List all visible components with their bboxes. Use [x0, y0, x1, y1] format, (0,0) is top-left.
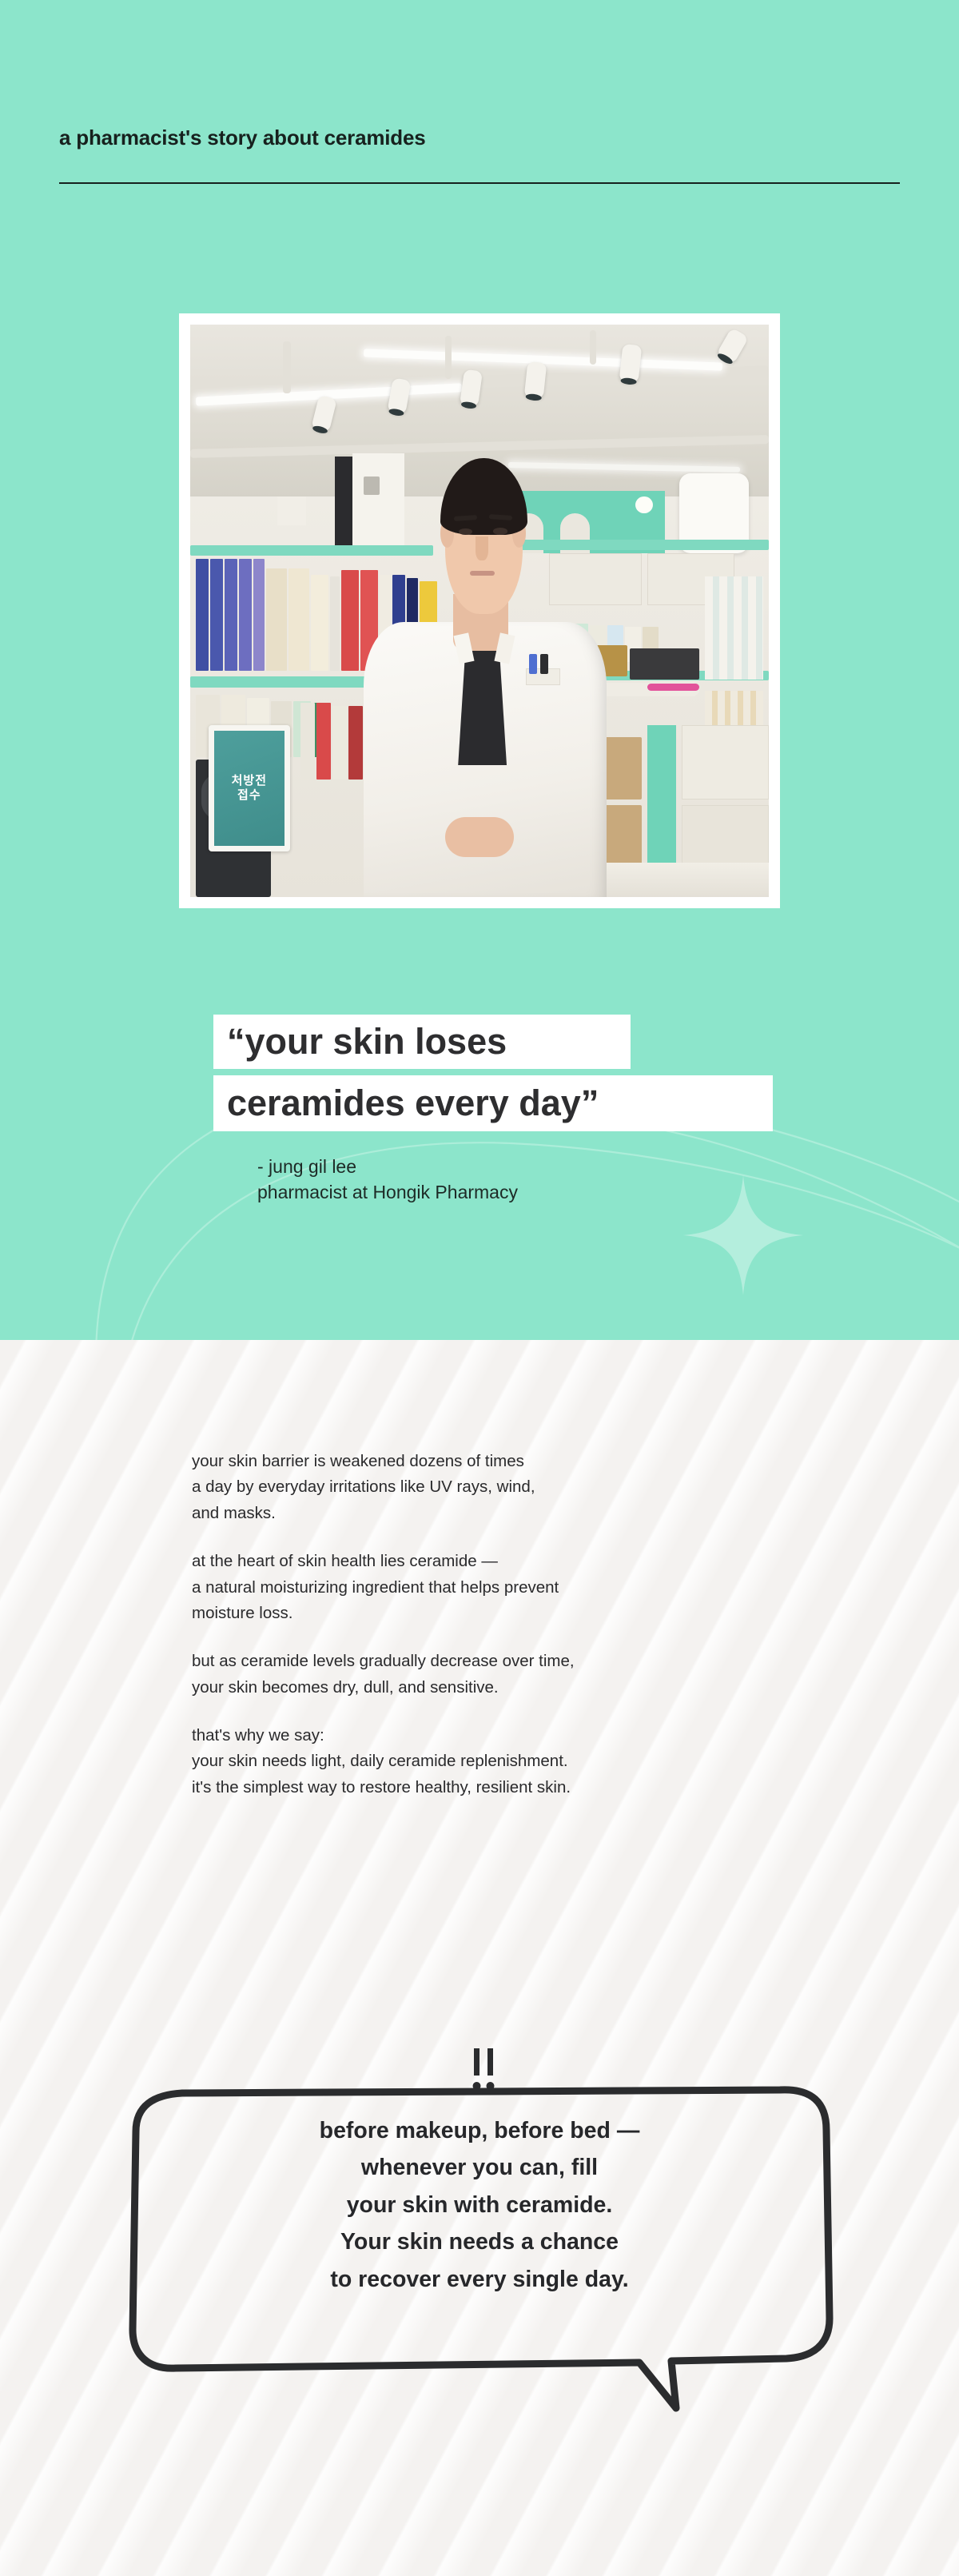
pharmacist-nose: [476, 536, 488, 560]
double-exclamation-icon: [470, 2048, 499, 2093]
wall-switch: [364, 477, 380, 495]
body-paragraph: your skin barrier is weakened dozens of …: [192, 1449, 799, 1526]
body-paragraph: at the heart of skin health lies ceramid…: [192, 1549, 799, 1626]
prescription-sign-face: 처방전 접수: [214, 731, 284, 846]
wall-block: [277, 496, 306, 525]
hero-mint-section: a pharmacist's story about ceramides: [0, 0, 959, 1340]
quote-attribution: - jung gil lee pharmacist at Hongik Phar…: [257, 1154, 518, 1205]
pharmacist-hands: [445, 817, 515, 857]
dark-product-box: [630, 648, 699, 680]
page-title: a pharmacist's story about ceramides: [59, 126, 426, 150]
mint-divider: [647, 725, 676, 874]
quote-line-1: “your skin loses: [213, 1015, 631, 1069]
pen-blue: [529, 654, 537, 674]
bubble-line: whenever you can, fill: [112, 2149, 847, 2186]
pharmacist-photo-card: 처방전 접수: [179, 313, 780, 908]
attribution-name: - jung gil lee: [257, 1154, 518, 1180]
hanging-product-strips: [705, 576, 762, 680]
pharmacist-eye-right: [493, 528, 507, 535]
bubble-line: Your skin needs a chance: [112, 2223, 847, 2260]
bubble-line: your skin with ceramide.: [112, 2187, 847, 2223]
bubble-line: to recover every single day.: [112, 2261, 847, 2298]
pharmacist-photo: 처방전 접수: [190, 325, 769, 897]
sign-line-1: 처방전: [232, 775, 267, 787]
prescription-sign: 처방전 접수: [209, 725, 289, 851]
shelf-edge-left-2: [190, 676, 381, 688]
light-stem-1: [283, 341, 291, 393]
title-underline: [59, 182, 900, 184]
wall-panel: [352, 453, 404, 551]
pen-black: [540, 654, 548, 674]
sparkle-icon: [683, 1175, 803, 1295]
body-paragraph: but as ceramide levels gradually decreas…: [192, 1649, 799, 1701]
body-paragraph: that's why we say:your skin needs light,…: [192, 1723, 799, 1800]
track-spotlight-4: [524, 361, 547, 398]
callout-speech-bubble: before makeup, before bed — whenever you…: [112, 2055, 847, 2415]
bubble-text: before makeup, before bed — whenever you…: [112, 2112, 847, 2298]
pink-marker: [647, 684, 699, 691]
light-stem-2: [445, 336, 452, 379]
quote-line-2: ceramides every day”: [213, 1075, 773, 1131]
promo-page: a pharmacist's story about ceramides: [0, 0, 959, 2576]
body-copy: your skin barrier is weakened dozens of …: [192, 1449, 799, 1800]
bubble-line: before makeup, before bed —: [112, 2112, 847, 2149]
light-stem-3: [590, 330, 597, 365]
sign-line-2: 접수: [237, 789, 261, 801]
attribution-role: pharmacist at Hongik Pharmacy: [257, 1180, 518, 1206]
shelf-edge-left-1: [190, 545, 433, 556]
right-shelf-item-1: [549, 553, 642, 604]
wall-column-dark: [335, 457, 352, 548]
counter-cubby-1: [682, 725, 769, 800]
pharmacist-mouth: [470, 571, 494, 576]
shelf-edge-right-1: [491, 540, 769, 551]
